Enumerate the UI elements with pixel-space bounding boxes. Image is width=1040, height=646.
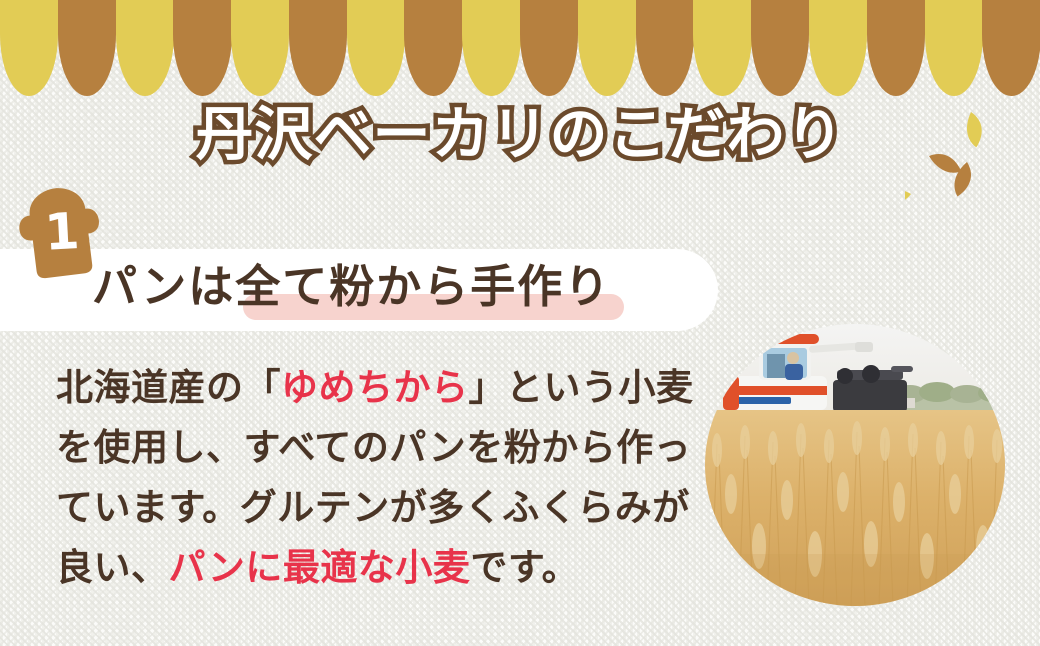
awning-stripe — [58, 0, 116, 96]
promo-poster: 丹沢ベーカリのこだわり パンは全て粉から手作り 1 — [0, 0, 1040, 646]
awning-stripe — [867, 0, 925, 96]
awning-stripe — [116, 0, 174, 96]
body-text: ています。グルテンが多くふくらみが — [56, 486, 690, 529]
wheat-field-illustration — [705, 324, 1005, 606]
body-text: 良い、 — [56, 546, 169, 589]
awning-stripe — [231, 0, 289, 96]
awning-stripe — [0, 0, 58, 96]
page-title: 丹沢ベーカリのこだわり — [0, 104, 1040, 165]
shop-awning — [0, 0, 1040, 96]
awning-stripe — [578, 0, 636, 96]
step-number-text: 1 — [16, 184, 105, 280]
step-number-badge: 1 — [13, 181, 108, 283]
awning-stripe — [925, 0, 983, 96]
awning-stripe — [636, 0, 694, 96]
body-accent-text: パンに最適な小麦 — [169, 546, 471, 589]
body-accent-text: ゆめちから — [281, 366, 469, 409]
awning-stripe — [693, 0, 751, 96]
body-line: 良い、パンに最適な小麦です。 — [56, 538, 696, 598]
heading-banner-text: パンは全て粉から手作り — [92, 254, 611, 319]
body-text: 」という小麦 — [469, 366, 694, 409]
awning-stripe — [173, 0, 231, 96]
body-paragraph: 北海道産の「ゆめちから」という小麦を使用し、すべてのパンを粉から作っています。グ… — [56, 358, 696, 598]
body-text: です。 — [470, 546, 579, 589]
awning-stripe — [404, 0, 462, 96]
page-title-text: 丹沢ベーカリのこだわり — [195, 104, 844, 165]
body-text: を使用し、すべてのパンを粉から作っ — [56, 426, 691, 469]
awning-stripe — [751, 0, 809, 96]
awning-stripe — [462, 0, 520, 96]
awning-stripe — [982, 0, 1040, 96]
body-line: を使用し、すべてのパンを粉から作っ — [56, 418, 696, 478]
body-line: ています。グルテンが多くふくらみが — [56, 478, 696, 538]
wheat-leaf — [905, 182, 911, 210]
awning-stripe — [347, 0, 405, 96]
awning-stripe — [809, 0, 867, 96]
body-line: 北海道産の「ゆめちから」という小麦 — [56, 358, 696, 418]
wheat-field-photo — [705, 324, 1005, 606]
awning-stripe — [289, 0, 347, 96]
awning-stripe — [520, 0, 578, 96]
body-text: 北海道産の「 — [56, 366, 281, 409]
